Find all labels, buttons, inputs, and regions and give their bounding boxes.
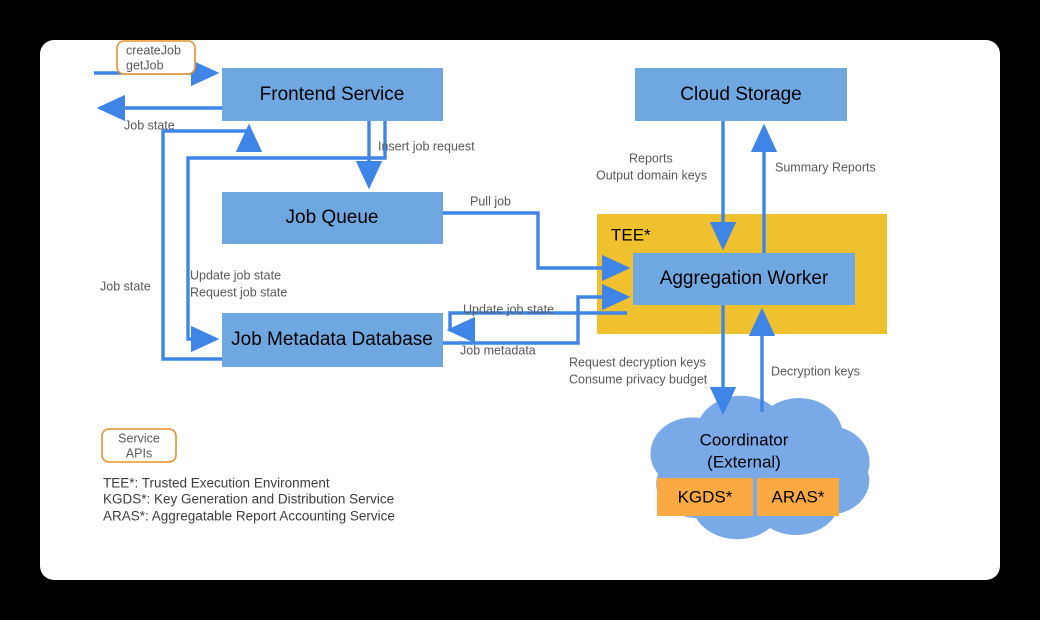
job-queue-label: Job Queue — [286, 207, 379, 228]
screenshot-canvas: TEE* Coordinator (External) KGDS* ARAS* — [0, 0, 1040, 620]
legend-tee-definition: TEE*: Trusted Execution Environment — [103, 476, 330, 491]
coordinator-label-line1: Coordinator — [700, 430, 789, 449]
legend-aras-definition: ARAS*: Aggregatable Report Accounting Se… — [103, 509, 395, 524]
legend-service-apis-line1: Service — [118, 431, 160, 445]
frontend-service-label: Frontend Service — [260, 84, 405, 105]
create-job-label: createJob — [126, 43, 181, 57]
edge-label-job-state-out: Job state — [124, 118, 175, 132]
edge-label-consume-privacy-budget: Consume privacy budget — [569, 372, 708, 386]
edge-label-request-job-state-db: Request job state — [190, 285, 287, 299]
aras-chip-label: ARAS* — [772, 487, 825, 506]
edge-label-job-metadata: Job metadata — [460, 343, 536, 357]
edge-label-summary-reports: Summary Reports — [775, 160, 876, 174]
aggregation-worker-label: Aggregation Worker — [660, 268, 829, 289]
legend-service-apis-line2: APIs — [126, 446, 152, 460]
tee-container-label: TEE* — [611, 225, 651, 244]
edge-label-pull-job: Pull job — [470, 194, 511, 208]
edge-label-output-domain-keys: Output domain keys — [596, 168, 707, 182]
legend-kgds-definition: KGDS*: Key Generation and Distribution S… — [103, 492, 394, 507]
kgds-chip-label: KGDS* — [678, 487, 733, 506]
edge-label-insert-job-request: Insert job request — [378, 139, 475, 153]
coordinator-label-line2: (External) — [707, 452, 781, 471]
edge-label-update-job-state-db: Update job state — [190, 268, 281, 282]
architecture-diagram: TEE* Coordinator (External) KGDS* ARAS* — [0, 0, 1040, 620]
job-metadata-database-label: Job Metadata Database — [231, 329, 433, 350]
edge-label-request-decryption-keys: Request decryption keys — [569, 355, 706, 369]
get-job-label: getJob — [126, 58, 164, 72]
edge-label-job-state-left: Job state — [100, 279, 151, 293]
edge-label-update-job-state-worker: Update job state — [463, 302, 554, 316]
edge-label-decryption-keys: Decryption keys — [771, 364, 860, 378]
cloud-storage-label: Cloud Storage — [680, 84, 801, 105]
edge-label-reports: Reports — [629, 151, 673, 165]
